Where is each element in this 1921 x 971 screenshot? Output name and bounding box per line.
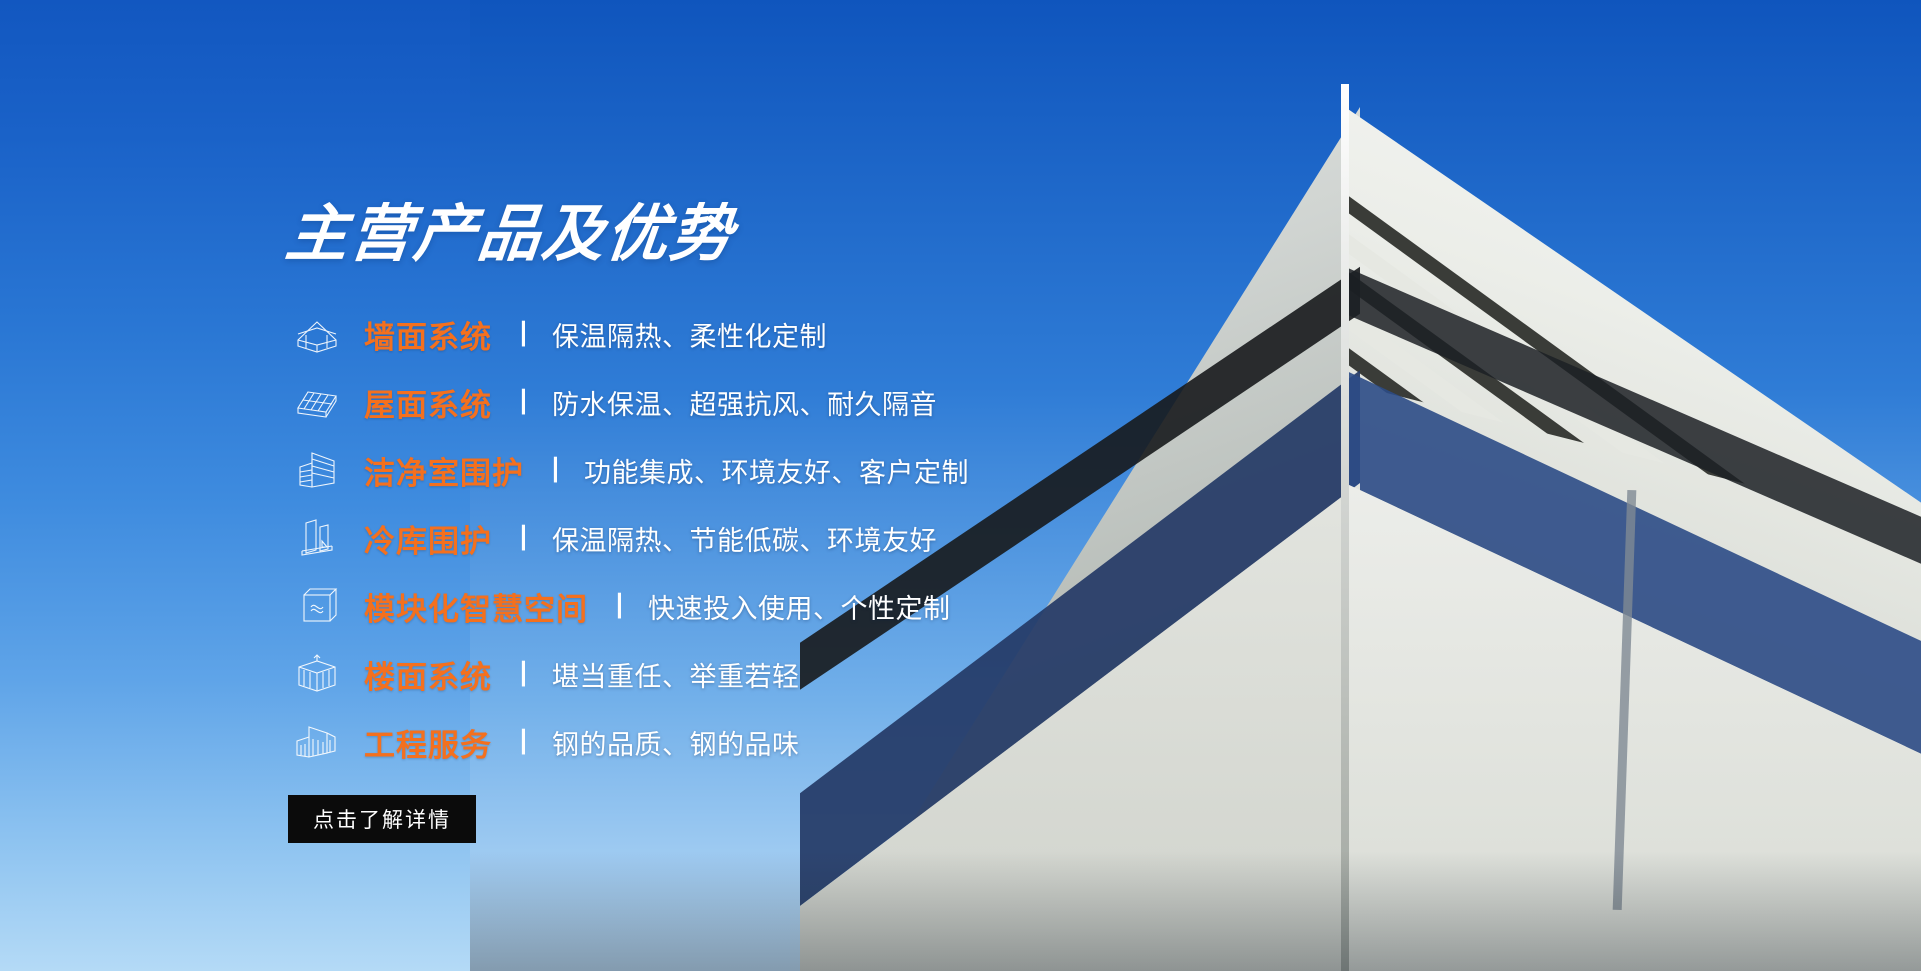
- product-desc: 钢的品质、钢的品味: [552, 723, 800, 762]
- product-list: 墙面系统 丨 保温隔热、柔性化定制 屋面系统 丨 防水保温、超强抗: [286, 300, 969, 776]
- hero-banner: 主营产品及优势 墙面系统 丨 保温隔热、柔性化定制: [0, 0, 1921, 971]
- tower-corner-edge: [1341, 84, 1349, 971]
- list-item[interactable]: 楼面系统 丨 堪当重任、举重若轻: [286, 640, 969, 708]
- separator: 丨: [510, 381, 537, 420]
- product-title: 墙面系统: [364, 312, 492, 357]
- product-title: 模块化智慧空间: [364, 584, 588, 629]
- separator: 丨: [542, 449, 569, 488]
- floor-system-icon: [286, 649, 348, 699]
- product-title: 屋面系统: [364, 380, 492, 425]
- list-item[interactable]: 洁净室围护 丨 功能集成、环境友好、客户定制: [286, 436, 969, 504]
- wall-system-icon: [286, 309, 348, 359]
- engineering-service-icon: [286, 717, 348, 767]
- product-title: 工程服务: [364, 720, 492, 765]
- list-item[interactable]: 墙面系统 丨 保温隔热、柔性化定制: [286, 300, 969, 368]
- product-title: 洁净室围护: [364, 448, 524, 493]
- learn-more-button[interactable]: 点击了解详情: [288, 795, 476, 843]
- separator: 丨: [510, 721, 537, 760]
- cold-storage-enclosure-icon: [286, 513, 348, 563]
- product-title: 冷库围护: [364, 516, 492, 561]
- product-title: 楼面系统: [364, 652, 492, 697]
- separator: 丨: [510, 653, 537, 692]
- list-item[interactable]: 工程服务 丨 钢的品质、钢的品味: [286, 708, 969, 776]
- product-desc: 功能集成、环境友好、客户定制: [584, 451, 969, 490]
- product-desc: 快速投入使用、个性定制: [648, 587, 951, 626]
- list-item[interactable]: 屋面系统 丨 防水保温、超强抗风、耐久隔音: [286, 368, 969, 436]
- roof-system-icon: [286, 377, 348, 427]
- product-desc: 防水保温、超强抗风、耐久隔音: [552, 383, 937, 422]
- hero-content: 主营产品及优势 墙面系统 丨 保温隔热、柔性化定制: [0, 0, 900, 971]
- page-title: 主营产品及优势: [283, 204, 738, 266]
- cleanroom-enclosure-icon: [286, 445, 348, 495]
- separator: 丨: [510, 517, 537, 556]
- product-desc: 保温隔热、柔性化定制: [552, 315, 827, 354]
- list-item[interactable]: 模块化智慧空间 丨 快速投入使用、个性定制: [286, 572, 969, 640]
- modular-smart-space-icon: [286, 581, 348, 631]
- list-item[interactable]: 冷库围护 丨 保温隔热、节能低碳、环境友好: [286, 504, 969, 572]
- separator: 丨: [606, 585, 633, 624]
- separator: 丨: [510, 313, 537, 352]
- product-desc: 保温隔热、节能低碳、环境友好: [552, 519, 937, 558]
- product-desc: 堪当重任、举重若轻: [552, 655, 800, 694]
